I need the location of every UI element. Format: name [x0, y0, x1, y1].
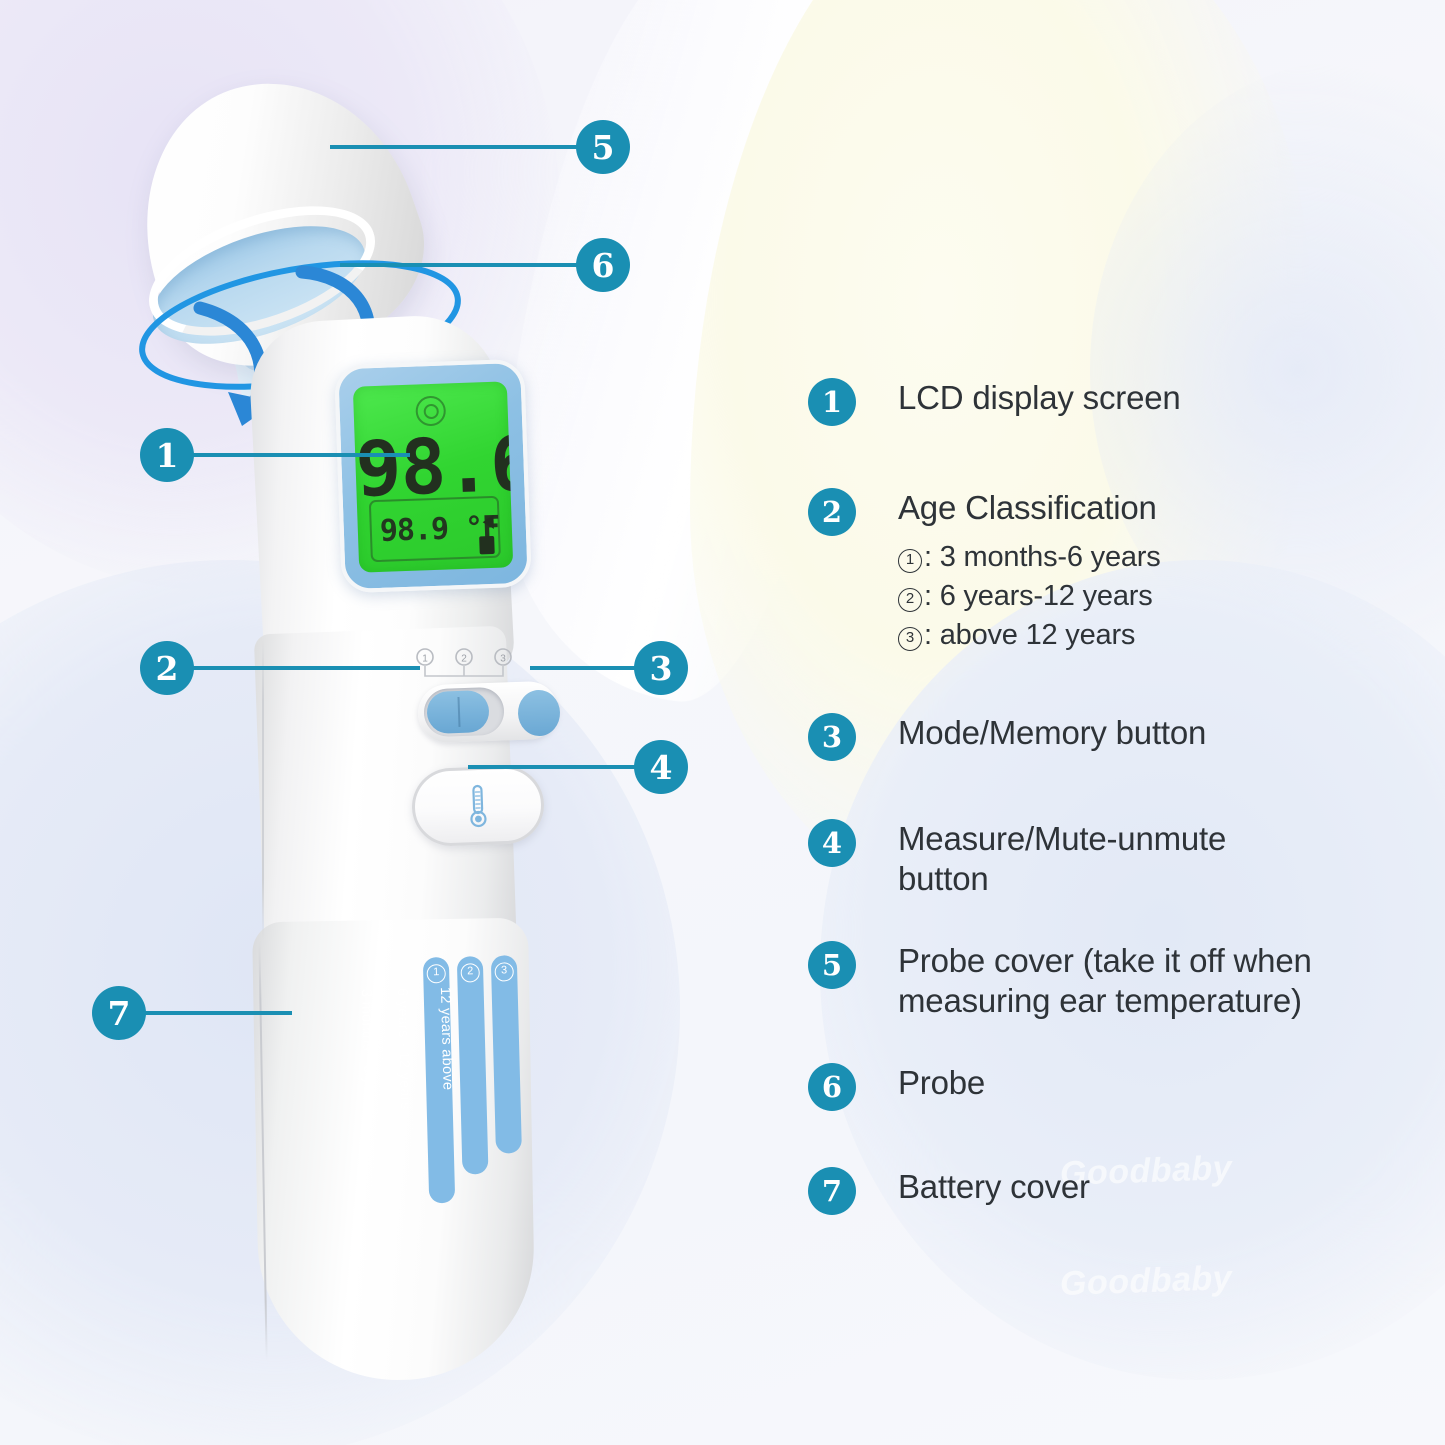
callout-3-mode-memory: 3: [530, 641, 690, 695]
circled-number: 2: [898, 588, 922, 612]
legend-label: LCD display screen: [898, 378, 1181, 418]
legend-number: 4: [808, 819, 856, 867]
callout-leader-line: [330, 145, 582, 149]
age-range-text: : above 12 years: [924, 619, 1135, 651]
legend-item-age-classification: 2 Age Classification 1: 3 months-6 years…: [808, 488, 1428, 655]
callout-7-battery-cover: 7: [92, 986, 292, 1040]
age-strip-2: 2 6 years - 12 years: [457, 956, 489, 1175]
legend-list: 1 LCD display screen 2 Age Classificatio…: [808, 378, 1428, 1215]
mode-memory-button[interactable]: [517, 689, 561, 736]
age-strip-label: 6 years - 12 years: [394, 988, 413, 1110]
age-classification-subline: 1: 3 months-6 years: [898, 538, 1161, 577]
legend-number: 1: [808, 378, 856, 426]
product-diagram: Goodbaby Goodbaby 98.6: [0, 0, 1445, 1445]
age-strip-number: 1: [426, 964, 445, 983]
legend-item-lcd-display-screen: 1 LCD display screen: [808, 378, 1428, 426]
legend-number: 2: [808, 488, 856, 536]
age-strip-number: 2: [460, 963, 479, 982]
callout-number: 1: [140, 428, 194, 482]
callout-leader-line: [190, 666, 420, 670]
legend-number: 5: [808, 941, 856, 989]
legend-number: 3: [808, 713, 856, 761]
callout-6-probe: 6: [340, 238, 630, 292]
age-classification-subline: 2: 6 years-12 years: [898, 577, 1161, 616]
legend-item-probe-cover: 5 Probe cover (take it off when measurin…: [808, 941, 1428, 1021]
age-classification-sublist: 1: 3 months-6 years 2: 6 years-12 years …: [898, 538, 1161, 655]
legend-item-measure-mute-button: 4 Measure/Mute-unmute button: [808, 819, 1428, 899]
legend-label: Age Classification: [898, 488, 1161, 528]
callout-number: 7: [92, 986, 146, 1040]
age-range-text: : 3 months-6 years: [924, 541, 1161, 573]
age-strip-3: 3 12 years above: [491, 955, 522, 1154]
callout-2-age-switch: 2: [140, 641, 430, 695]
legend-label: Probe cover (take it off when measuring …: [898, 941, 1312, 1021]
callout-leader-line: [190, 453, 410, 457]
callout-number: 5: [576, 120, 630, 174]
svg-text:2: 2: [461, 654, 467, 665]
callout-number: 6: [576, 238, 630, 292]
legend-label: Mode/Memory button: [898, 713, 1206, 753]
lcd-status-icons: [478, 515, 494, 554]
legend-number: 7: [808, 1167, 856, 1215]
battery-icon: [479, 536, 495, 555]
legend-item-mode-memory-button: 3 Mode/Memory button: [808, 713, 1428, 761]
age-strip-number: 3: [494, 962, 513, 981]
legend-label: Measure/Mute-unmute button: [898, 819, 1226, 899]
callout-number: 4: [634, 740, 688, 794]
svg-text:3: 3: [500, 654, 506, 665]
legend-label: Battery cover: [898, 1167, 1090, 1207]
legend-item-probe: 6 Probe: [808, 1063, 1428, 1111]
callout-leader-line: [530, 666, 640, 670]
callout-number: 3: [634, 641, 688, 695]
callout-leader-line: [340, 263, 582, 267]
circled-number: 3: [898, 627, 922, 651]
callout-leader-line: [468, 765, 640, 769]
legend-number: 6: [808, 1063, 856, 1111]
legend-label: Probe: [898, 1063, 985, 1103]
age-classification-switch[interactable]: [426, 690, 489, 734]
circled-number: 1: [898, 549, 922, 573]
age-strip-label: 3 months - 6 years: [358, 989, 377, 1115]
callout-1-lcd: 1: [140, 428, 420, 482]
age-classification-strips: 1 3 months - 6 years 2 6 years - 12 year…: [423, 955, 545, 1204]
legend-item-battery-cover: 7 Battery cover: [808, 1167, 1428, 1215]
callout-5-probe-cover: 5: [330, 120, 630, 174]
callout-number: 2: [140, 641, 194, 695]
age-classification-subline: 3: above 12 years: [898, 616, 1161, 655]
callout-leader-line: [142, 1011, 292, 1015]
callout-4-measure-button: 4: [468, 740, 688, 794]
age-strip-label: 12 years above: [437, 987, 456, 1091]
age-range-text: : 6 years-12 years: [924, 580, 1153, 612]
speaker-icon: [482, 515, 493, 529]
